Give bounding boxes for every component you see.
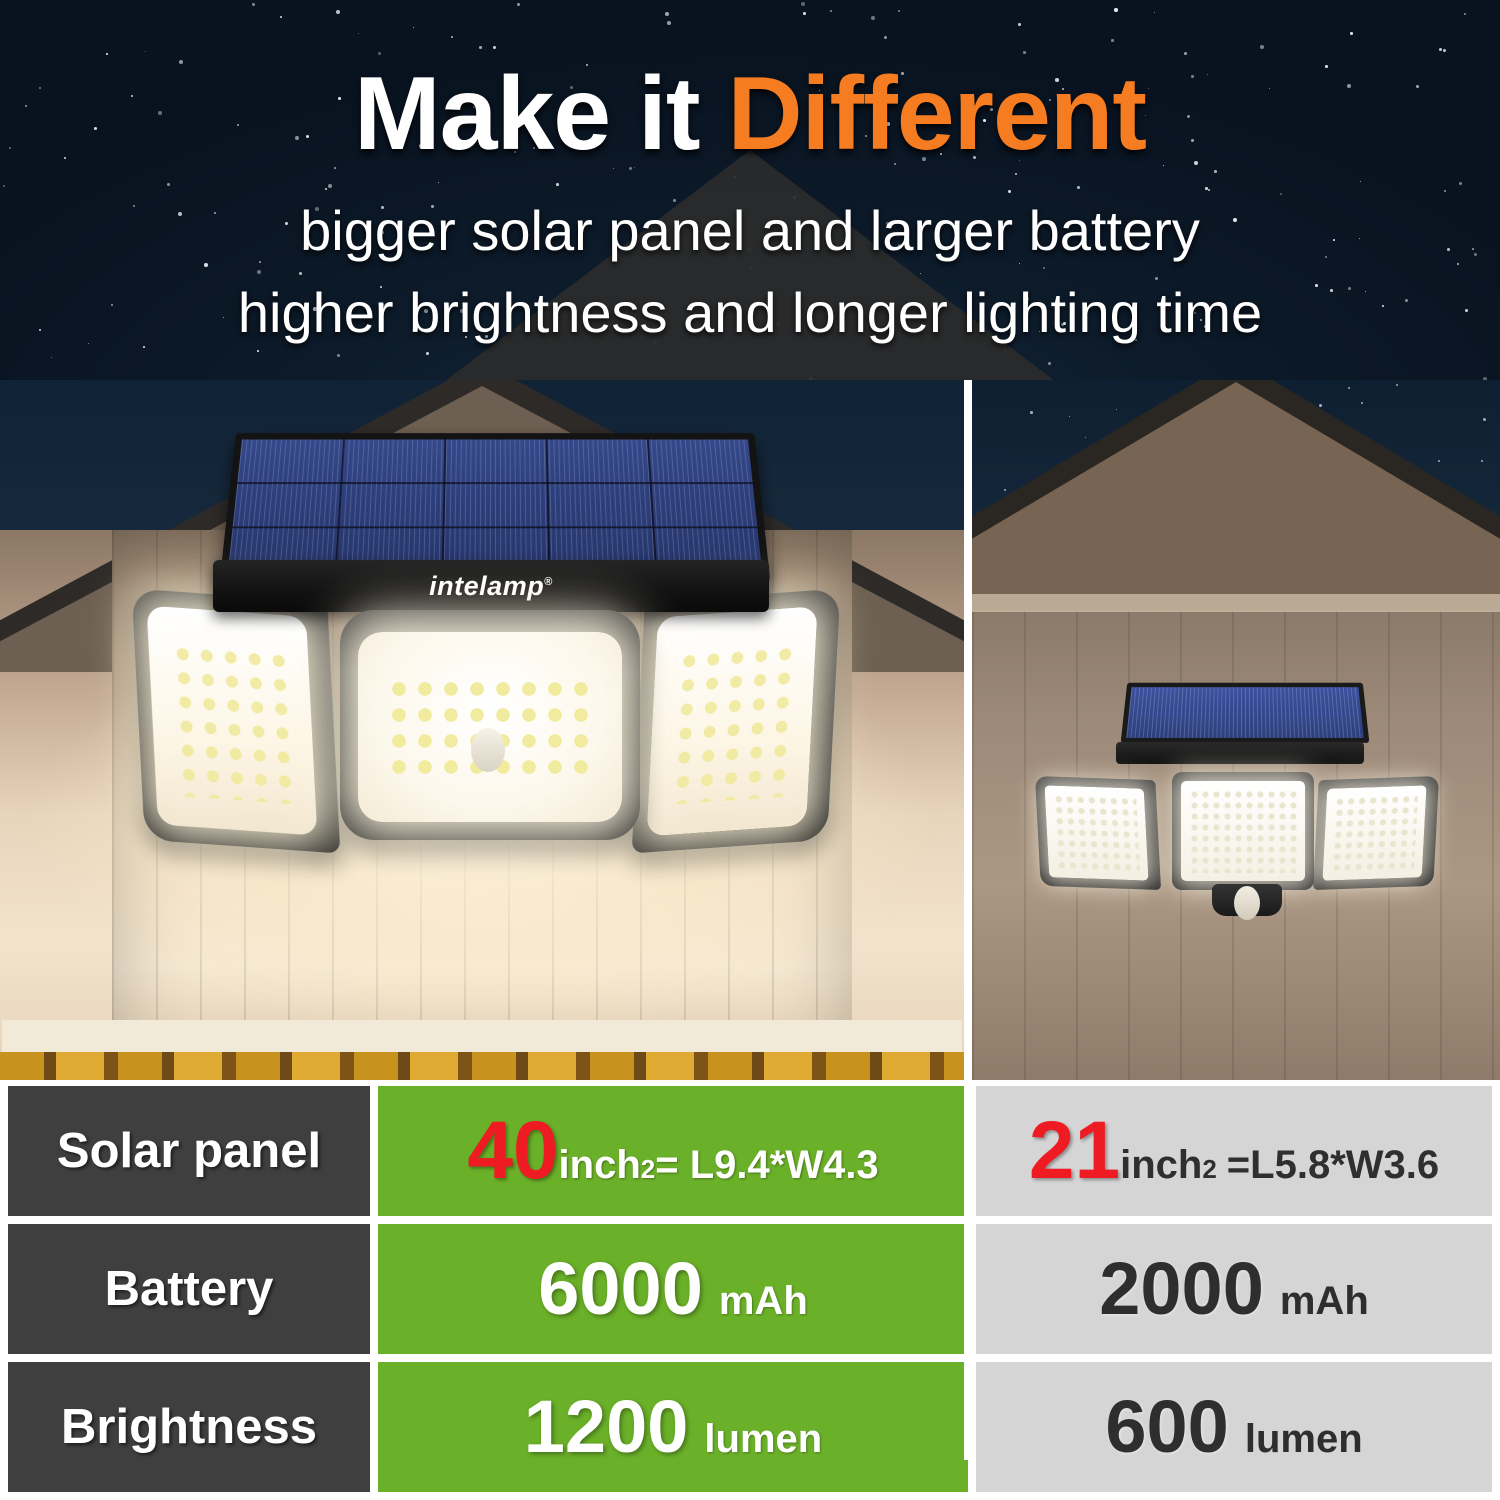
lens-center xyxy=(358,632,622,822)
value-number: 6000 xyxy=(538,1252,703,1326)
spec-value-ours-solar-panel: 40 inch 2 = L9.4*W4.3 xyxy=(467,1114,878,1188)
led-array-right xyxy=(670,642,794,805)
spec-value-theirs-brightness: 600 lumen xyxy=(1105,1390,1362,1464)
value-number: 600 xyxy=(1105,1390,1228,1464)
light-head-right-theirs xyxy=(1313,776,1439,890)
spec-label-solar-panel: Solar panel xyxy=(57,1123,321,1179)
soffit-right xyxy=(972,594,1500,612)
page-title: Make it Different xyxy=(0,62,1500,166)
hero-roof-silhouette xyxy=(420,150,1080,390)
spec-label-cell: Battery xyxy=(8,1224,370,1354)
value-unit: lumen xyxy=(1245,1417,1363,1462)
spec-label-brightness: Brightness xyxy=(61,1399,317,1455)
product-photo-ours: intelamp® xyxy=(0,380,964,1080)
spec-value-theirs-battery: 2000 mAh xyxy=(1099,1252,1369,1326)
headline-accent-part: Different xyxy=(727,56,1146,172)
value-detail: = L9.4*W4.3 xyxy=(655,1143,878,1188)
light-head-left xyxy=(132,588,341,853)
lens-left-theirs xyxy=(1044,785,1148,880)
lens-right xyxy=(646,606,817,836)
roof-gable-inner-right xyxy=(972,382,1500,610)
solar-light-fixture-ours: intelamp® xyxy=(118,410,858,860)
light-head-center-theirs xyxy=(1172,772,1314,890)
lens-center-theirs xyxy=(1181,781,1305,881)
motion-sensor-icon-theirs xyxy=(1234,886,1260,920)
spec-label-cell: Brightness xyxy=(8,1362,370,1492)
value-unit: inch xyxy=(559,1143,641,1188)
lens-right-theirs xyxy=(1322,785,1426,880)
value-superscript: 2 xyxy=(1202,1154,1216,1185)
spec-value-ours-battery: 6000 mAh xyxy=(538,1252,808,1326)
value-unit: lumen xyxy=(704,1417,822,1462)
lit-window-strip-left xyxy=(0,1052,964,1080)
lens-left xyxy=(146,606,317,836)
spec-comparison-table: Solar panel 40 inch 2 = L9.4*W4.3 21 inc… xyxy=(8,1086,1492,1494)
led-array-left xyxy=(170,641,294,804)
value-number: 1200 xyxy=(524,1390,689,1464)
product-comparison-infographic: Make it Different bigger solar panel and… xyxy=(0,0,1500,1500)
headline-white-part: Make it xyxy=(354,56,727,172)
solar-light-fixture-theirs xyxy=(1016,680,1456,930)
fixture-housing-bar: intelamp® xyxy=(213,560,769,612)
table-row: Battery 6000 mAh 2000 mAh xyxy=(8,1224,1492,1354)
spec-label-battery: Battery xyxy=(105,1261,274,1317)
spec-value-ours-cell: 6000 mAh xyxy=(378,1224,968,1354)
table-row: Solar panel 40 inch 2 = L9.4*W4.3 21 inc… xyxy=(8,1086,1492,1216)
spec-value-theirs-cell: 21 inch 2 =L5.8*W3.6 xyxy=(976,1086,1492,1216)
value-unit: mAh xyxy=(719,1279,808,1324)
brand-registered-mark: ® xyxy=(544,576,553,588)
fixture-housing-bar-theirs xyxy=(1116,742,1364,764)
solar-panel-theirs xyxy=(1121,683,1370,743)
photo-divider xyxy=(964,760,972,1460)
hero-night-sky-banner: Make it Different bigger solar panel and… xyxy=(0,0,1500,390)
product-photo-strip: intelamp® xyxy=(0,380,1500,1080)
value-number: 2000 xyxy=(1099,1252,1264,1326)
subtitle-line-2: higher brightness and longer lighting ti… xyxy=(0,282,1500,345)
product-photo-theirs xyxy=(972,380,1500,1080)
light-head-left-theirs xyxy=(1035,776,1161,890)
spec-value-ours-cell: 40 inch 2 = L9.4*W4.3 xyxy=(378,1086,968,1216)
value-unit: mAh xyxy=(1280,1279,1369,1324)
value-number: 21 xyxy=(1029,1114,1120,1188)
brand-logo: intelamp® xyxy=(213,571,769,602)
motion-sensor-icon xyxy=(471,728,505,772)
value-unit: inch xyxy=(1120,1143,1202,1188)
light-head-right xyxy=(632,588,841,853)
light-head-center xyxy=(340,610,640,840)
subtitle-line-1: bigger solar panel and larger battery xyxy=(0,200,1500,263)
value-detail: =L5.8*W3.6 xyxy=(1227,1143,1439,1188)
value-superscript: 2 xyxy=(641,1154,655,1185)
value-number: 40 xyxy=(467,1114,558,1188)
spec-value-theirs-cell: 2000 mAh xyxy=(976,1224,1492,1354)
table-row: Brightness 1200 lumen 600 lumen xyxy=(8,1362,1492,1492)
spec-value-theirs-solar-panel: 21 inch 2 =L5.8*W3.6 xyxy=(1029,1114,1439,1188)
spec-value-theirs-cell: 600 lumen xyxy=(976,1362,1492,1492)
spec-value-ours-brightness: 1200 lumen xyxy=(524,1390,822,1464)
spec-label-cell: Solar panel xyxy=(8,1086,370,1216)
spec-value-ours-cell: 1200 lumen xyxy=(378,1362,968,1492)
brand-logo-text: intelamp xyxy=(429,571,544,601)
